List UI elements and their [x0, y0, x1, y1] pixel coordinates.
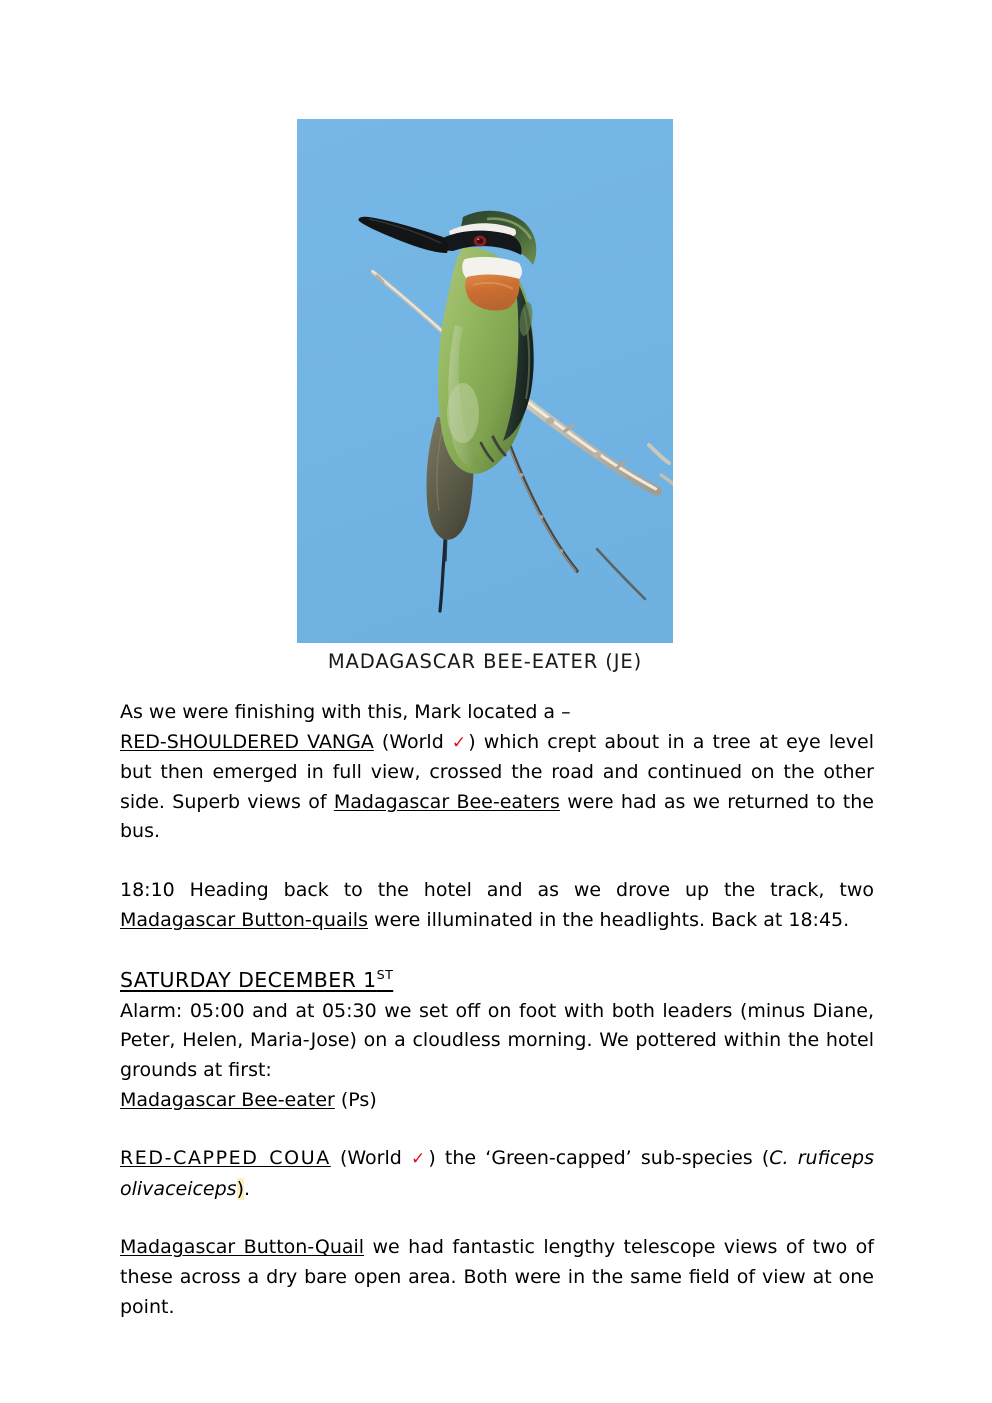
- date-heading: SATURDAY DECEMBER 1ST: [120, 966, 393, 996]
- species-madagascar-button-quail: Madagascar Button-Quail: [120, 1236, 364, 1258]
- highlighted-paren: ): [237, 1178, 244, 1200]
- intro-line: As we were finishing with this, Mark loc…: [120, 701, 571, 723]
- coua-subspecies-text: ) the ‘Green-capped’ sub-species (: [428, 1147, 769, 1169]
- world-label-1: (World: [374, 731, 452, 753]
- species-red-shouldered-vanga: RED-SHOULDERED VANGA: [120, 731, 374, 753]
- paragraph-bee-eater-entry: Madagascar Bee-eater (Ps): [120, 1086, 874, 1116]
- paragraph-gap: [120, 935, 874, 966]
- paragraph-button-quail: Madagascar Button-Quail we had fantastic…: [120, 1233, 874, 1322]
- date-heading-row: SATURDAY DECEMBER 1ST: [120, 966, 874, 997]
- paragraph-gap: [120, 847, 874, 876]
- species-madagascar-bee-eaters: Madagascar Bee-eaters: [334, 791, 560, 813]
- species-madagascar-bee-eater: Madagascar Bee-eater: [120, 1089, 335, 1111]
- paragraph-vanga: As we were finishing with this, Mark loc…: [120, 698, 874, 847]
- photo-block: MADAGASCAR BEE-EATER (JE): [297, 119, 673, 643]
- document-page: MADAGASCAR BEE-EATER (JE) As we were fin…: [0, 0, 992, 1403]
- check-icon: ✓: [452, 733, 468, 753]
- species-red-capped-coua: RED-CAPPED COUA: [120, 1147, 331, 1169]
- photo-caption: MADAGASCAR BEE-EATER (JE): [157, 650, 813, 673]
- paragraph-gap: [120, 1115, 874, 1144]
- evening-text-b: were illuminated in the headlights. Back…: [368, 909, 849, 931]
- species-madagascar-button-quails: Madagascar Button-quails: [120, 909, 368, 931]
- date-heading-text: SATURDAY DECEMBER 1: [120, 968, 377, 992]
- paragraph-gap: [120, 1204, 874, 1233]
- paragraph-morning-start: Alarm: 05:00 and at 05:30 we set off on …: [120, 997, 874, 1086]
- world-label-2: (World: [331, 1147, 411, 1169]
- paragraph-evening-return: 18:10 Heading back to the hotel and as w…: [120, 876, 874, 935]
- morning-text: Alarm: 05:00 and at 05:30 we set off on …: [120, 1000, 874, 1081]
- date-heading-ordinal: ST: [377, 967, 394, 982]
- check-icon: ✓: [411, 1149, 428, 1169]
- observer-initials-ps: (Ps): [335, 1089, 377, 1111]
- paragraph-red-capped-coua: RED-CAPPED COUA (World ✓) the ‘Green-cap…: [120, 1144, 874, 1204]
- document-body: As we were finishing with this, Mark loc…: [120, 698, 874, 1322]
- evening-text-a: 18:10 Heading back to the hotel and as w…: [120, 879, 874, 901]
- coua-period: .: [244, 1178, 250, 1200]
- bird-photograph: [297, 119, 673, 643]
